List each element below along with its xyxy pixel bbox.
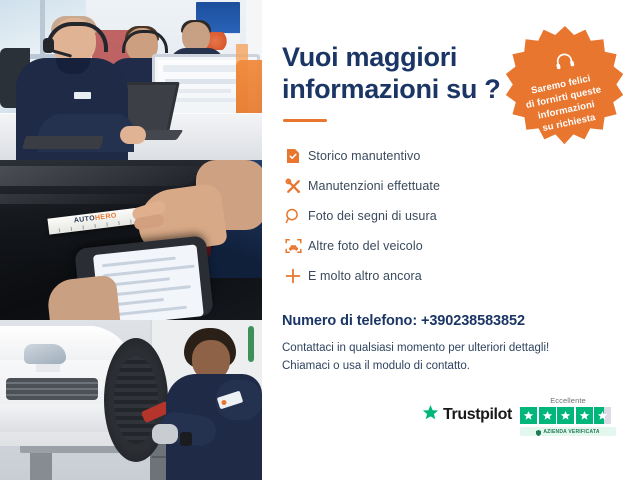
- call-center-photo: [0, 0, 262, 160]
- shield-check-icon: [536, 423, 541, 441]
- star-icon: [539, 407, 556, 424]
- ruler-brand-b: HERO: [95, 212, 118, 222]
- contact-subtext: Contattaci in qualsiasi momento per ulte…: [282, 340, 612, 376]
- contact-subtext-line2: Chiamaci o usa il modulo di contatto.: [282, 358, 612, 376]
- list-item-label: Foto dei segni di usura: [308, 209, 437, 223]
- trustpilot-widget[interactable]: Trustpilot Eccellente AZIENDA VERIFICATA: [422, 396, 622, 442]
- star-icon: [576, 407, 593, 424]
- phone-number[interactable]: Numero di telefono: +390238583852: [282, 313, 525, 329]
- tools-icon: [278, 176, 308, 196]
- workshop-photo: [0, 320, 262, 480]
- plus-icon: [278, 266, 308, 286]
- list-item-label: Manutenzioni effettuate: [308, 179, 440, 193]
- list-item: E molto altro ancora: [278, 261, 528, 291]
- content-panel: Vuoi maggiori informazioni su ? Storico …: [262, 0, 640, 480]
- car-scan-icon: [278, 236, 308, 256]
- vehicle-inspection-photo: AUTOHERO: [0, 160, 262, 320]
- star-icon: [422, 404, 439, 426]
- page-title: Vuoi maggiori informazioni su ?: [282, 42, 512, 106]
- photo-column: AUTOHERO: [0, 0, 262, 480]
- list-item: Manutenzioni effettuate: [278, 171, 528, 201]
- feature-list: Storico manutentivo Manutenzioni effettu…: [278, 141, 528, 291]
- ruler-brand-a: AUTO: [73, 215, 95, 225]
- info-request-banner: AUTOHERO: [0, 0, 640, 480]
- list-item-label: E molto altro ancora: [308, 269, 422, 283]
- verified-label: AZIENDA VERIFICATA: [543, 429, 599, 435]
- star-icon: [557, 407, 574, 424]
- list-item: Altre foto del veicolo: [278, 231, 528, 261]
- verified-badge: AZIENDA VERIFICATA: [520, 427, 616, 436]
- title-divider: [283, 119, 327, 122]
- trustpilot-rating: Eccellente AZIENDA VERIFICATA: [520, 396, 616, 436]
- list-item-label: Altre foto del veicolo: [308, 239, 423, 253]
- list-item-label: Storico manutentivo: [308, 149, 420, 163]
- trustpilot-logo: Trustpilot: [422, 404, 512, 426]
- document-check-icon: [278, 146, 308, 166]
- promo-badge: Saremo felici di fornirti queste informa…: [505, 26, 625, 146]
- contact-subtext-line1: Contattaci in qualsiasi momento per ulte…: [282, 340, 612, 358]
- star-rating: [520, 407, 616, 424]
- star-icon: [520, 407, 537, 424]
- star-icon: [594, 407, 611, 424]
- list-item: Storico manutentivo: [278, 141, 528, 171]
- magnifier-icon: [278, 206, 308, 226]
- list-item: Foto dei segni di usura: [278, 201, 528, 231]
- trustpilot-wordmark: Trustpilot: [443, 406, 512, 424]
- rating-label: Eccellente: [520, 396, 616, 405]
